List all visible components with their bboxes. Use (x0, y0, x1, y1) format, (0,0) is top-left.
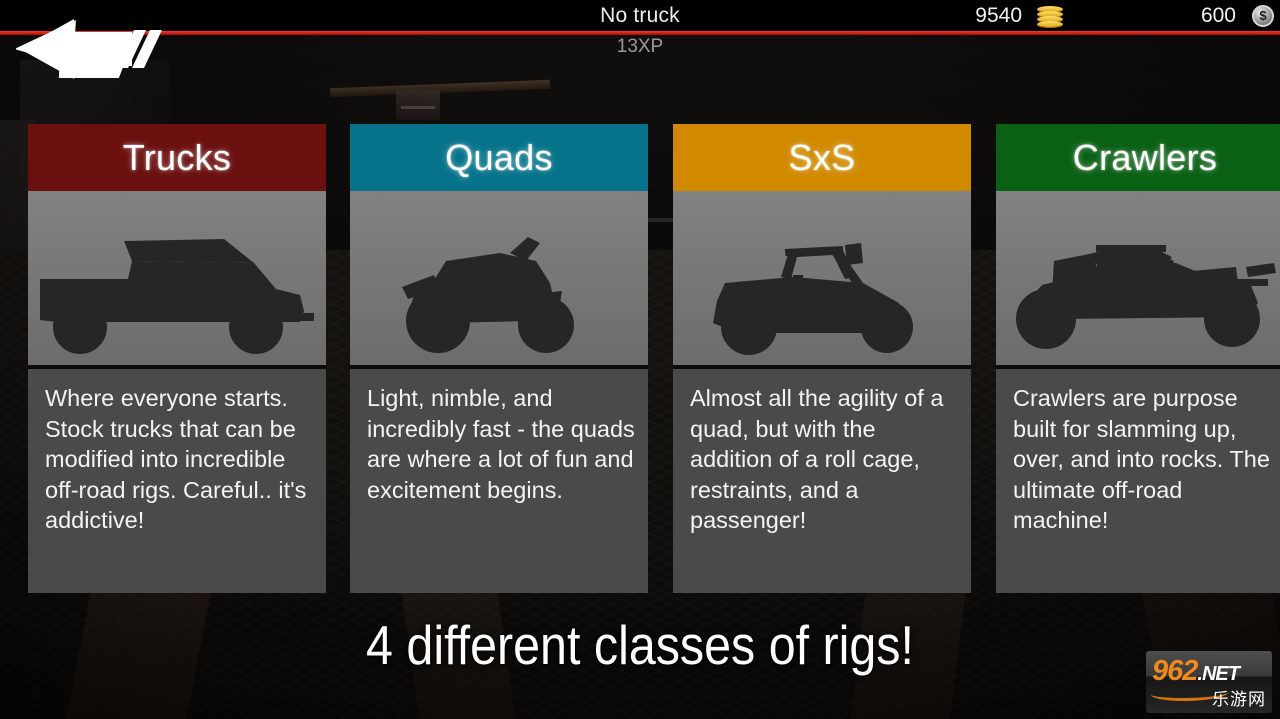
card-header-trucks: Trucks (28, 124, 326, 191)
card-image-quads (350, 191, 648, 369)
coin-stack-icon (1032, 5, 1068, 27)
xp-label: 13XP (0, 36, 1280, 58)
card-description: Almost all the agility of a quad, but wi… (690, 383, 958, 536)
card-title: Crawlers (1073, 137, 1217, 179)
coin-count: 9540 (975, 0, 1022, 31)
card-description-area-quads: Light, nimble, and incredibly fast - the… (350, 369, 648, 593)
card-header-crawlers: Crawlers (996, 124, 1280, 191)
card-header-sxs: SxS (673, 124, 971, 191)
card-description-area-crawlers: Crawlers are purpose built for slamming … (996, 369, 1280, 593)
card-title: Trucks (123, 137, 231, 179)
card-description: Where everyone starts. Stock trucks that… (45, 383, 313, 536)
site-watermark: 962.NET 乐游网 (1146, 651, 1272, 713)
card-description: Light, nimble, and incredibly fast - the… (367, 383, 635, 505)
watermark-962: 962 (1152, 655, 1197, 687)
card-description-area-sxs: Almost all the agility of a quad, but wi… (673, 369, 971, 593)
atv-quad-silhouette (350, 191, 648, 365)
pickup-truck-silhouette (28, 191, 326, 365)
rock-crawler-silhouette (996, 191, 1280, 365)
watermark-net: NET (1202, 663, 1239, 685)
hud-accent-line (0, 31, 1280, 35)
class-card-crawlers[interactable]: Crawlers Crawlers are purpose built for … (996, 124, 1280, 593)
side-by-side-buggy-silhouette (673, 191, 971, 365)
bucks-count: 600 (1201, 0, 1236, 31)
class-card-quads[interactable]: Quads Light, nimble, and incredibly fast… (350, 124, 648, 593)
dollar-coin-icon: $ (1252, 5, 1274, 27)
background-crate (396, 90, 440, 120)
card-description: Crawlers are purpose built for slamming … (1013, 383, 1280, 536)
card-image-sxs (673, 191, 971, 369)
card-image-crawlers (996, 191, 1280, 369)
card-title: Quads (445, 137, 553, 179)
class-card-sxs[interactable]: SxS Almost all the agility of a quad, bu… (673, 124, 971, 593)
card-image-trucks (28, 191, 326, 369)
class-card-trucks[interactable]: Trucks Where everyone starts. Stock truc… (28, 124, 326, 593)
card-description-area-trucks: Where everyone starts. Stock trucks that… (28, 369, 326, 593)
back-button[interactable] (16, 18, 166, 80)
watermark-chinese: 乐游网 (1212, 685, 1266, 710)
hud-bar: No truck 9540 600 $ (0, 0, 1280, 31)
card-header-quads: Quads (350, 124, 648, 191)
back-arrow-icon (16, 18, 166, 80)
dollar-glyph: $ (1254, 7, 1272, 25)
card-title: SxS (789, 137, 856, 179)
current-truck-label: No truck (0, 0, 1280, 31)
page-caption: 4 different classes of rigs! (77, 612, 1203, 678)
